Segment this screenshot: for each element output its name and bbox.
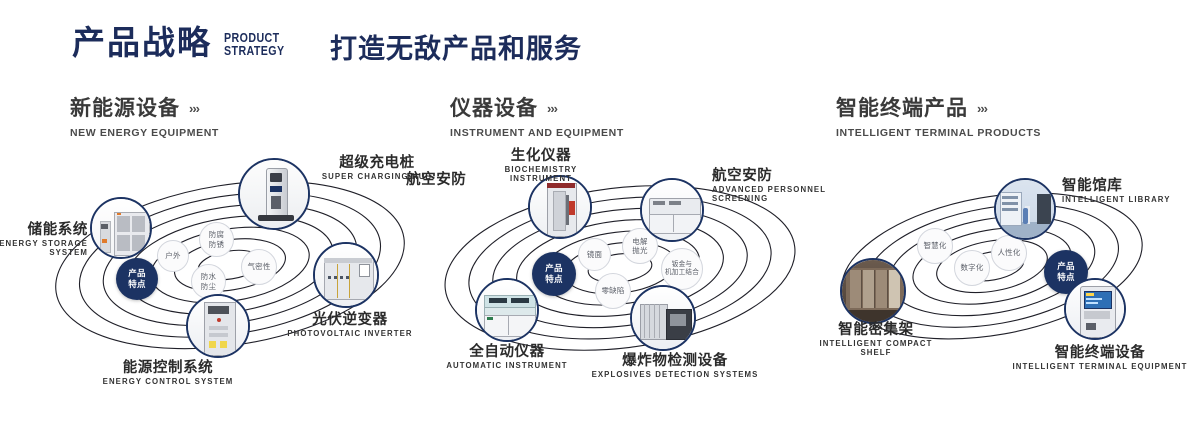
node-energy-storage-system[interactable]	[90, 197, 152, 259]
node-automatic-instrument[interactable]	[475, 278, 539, 342]
caption-en: INTELLIGENT TERMINAL EQUIPMENT	[1010, 363, 1190, 372]
feature-pill-label: 智慧化	[923, 241, 946, 250]
caption-energy-storage-system: 储能系统 ENERGY STORAGE SYSTEM	[0, 222, 88, 258]
node-intelligent-compact-shelf[interactable]	[840, 258, 906, 324]
node-photovoltaic-inverter[interactable]	[313, 242, 379, 308]
cluster-instrument: 镜面 电解 抛光 钣金与 机加工结合 零缺陷 产品 特点 航空安防 生化仪器 B…	[430, 160, 810, 360]
feature-pill-label: 人性化	[997, 248, 1020, 257]
section-title-en: NEW ENERGY EQUIPMENT	[70, 127, 219, 139]
feature-pill-label: 防腐 防锈	[209, 230, 224, 249]
page-title: 产品战略 PRODUCT STRATEGY	[72, 26, 298, 59]
caption-en: INTELLIGENT COMPACT SHELF	[796, 340, 956, 357]
caption-en: EXPLOSIVES DETECTION SYSTEMS	[585, 371, 765, 380]
caption-en: AUTOMATIC INSTRUMENT	[432, 362, 582, 371]
caption-intelligent-compact-shelf: 智能密集架 INTELLIGENT COMPACT SHELF	[796, 322, 956, 358]
section-title-cn: 新能源设备	[70, 98, 180, 119]
caption-cn: 储能系统	[0, 222, 88, 238]
cluster-new-energy: 户外 防腐 防锈 防水 防尘 气密性 产品 特点 储能系统 ENERGY S	[40, 160, 420, 360]
node-advanced-personnel-screening[interactable]	[640, 178, 704, 242]
caption-biochemistry-instrument: 生化仪器 BIOCHEMISTRY INSTRUMENT	[466, 148, 616, 184]
chevrons-right-icon: ›››	[977, 101, 987, 116]
page-title-en: PRODUCT STRATEGY	[224, 31, 285, 58]
caption-en: ENERGY CONTROL SYSTEM	[88, 378, 248, 387]
section-title-en: INSTRUMENT AND EQUIPMENT	[450, 127, 624, 139]
center-badge: 产品 特点	[116, 258, 158, 300]
feature-pill: 镜面	[578, 238, 611, 271]
feature-pill-label: 零缺陷	[601, 286, 624, 295]
caption-cn: 光伏逆变器	[280, 312, 420, 328]
node-intelligent-terminal-equipment[interactable]	[1064, 278, 1126, 340]
caption-cn: 全自动仪器	[432, 344, 582, 360]
section-title-intelligent-terminal: 智能终端产品››› INTELLIGENT TERMINAL PRODUCTS	[836, 98, 1041, 139]
feature-pill-label: 气密性	[247, 262, 270, 271]
feature-pill: 智慧化	[917, 228, 953, 264]
center-badge: 产品 特点	[532, 252, 576, 296]
node-energy-control-system[interactable]	[186, 294, 250, 358]
cluster-intelligent-terminal: 智慧化 数字化 人性化 产品 特点 智能馆库 INTELLIGENT LIBRA…	[812, 170, 1192, 370]
caption-energy-control-system: 能源控制系统 ENERGY CONTROL SYSTEM	[88, 360, 248, 387]
page-title-en-line2: STRATEGY	[224, 44, 285, 57]
center-badge-line2: 特点	[545, 274, 562, 285]
section-title-new-energy: 新能源设备››› NEW ENERGY EQUIPMENT	[70, 98, 219, 139]
feature-pill-label: 户外	[165, 251, 180, 260]
caption-cn: 爆炸物检测设备	[585, 353, 765, 369]
caption-en: ENERGY STORAGE SYSTEM	[0, 240, 88, 257]
page-slogan: 打造无敌产品和服务	[330, 36, 582, 63]
caption-photovoltaic-inverter: 光伏逆变器 PHOTOVOLTAIC INVERTER	[280, 312, 420, 339]
feature-pill-label: 钣金与 机加工结合	[665, 261, 699, 277]
feature-pill: 零缺陷	[595, 273, 631, 309]
product-strategy-infographic: 产品战略 PRODUCT STRATEGY 打造无敌产品和服务 新能源设备›››…	[0, 0, 1200, 422]
feature-pill: 户外	[157, 240, 189, 272]
chevrons-right-icon: ›››	[547, 101, 557, 116]
caption-cn: 能源控制系统	[88, 360, 248, 376]
feature-pill-label: 数字化	[960, 263, 983, 272]
chevrons-right-icon: ›››	[189, 101, 199, 116]
node-biochemistry-instrument[interactable]	[528, 175, 592, 239]
page-title-cn: 产品战略	[72, 26, 212, 59]
caption-cn: 智能终端设备	[1010, 345, 1190, 361]
page-title-en-line1: PRODUCT	[224, 31, 285, 44]
node-explosives-detection-systems[interactable]	[630, 285, 696, 351]
center-badge-line2: 特点	[128, 279, 145, 290]
section-title-cn: 仪器设备	[450, 98, 538, 119]
caption-cn: 生化仪器	[466, 148, 616, 164]
caption-cn: 智能密集架	[796, 322, 956, 338]
feature-pill: 气密性	[241, 249, 277, 285]
feature-pill-label: 镜面	[587, 250, 602, 259]
feature-pill: 防腐 防锈	[199, 222, 234, 257]
center-badge-line1: 产品	[1057, 261, 1074, 272]
section-title-instrument: 仪器设备››› INSTRUMENT AND EQUIPMENT	[450, 98, 624, 139]
center-badge-line1: 产品	[545, 263, 562, 274]
node-intelligent-library[interactable]	[994, 178, 1056, 240]
caption-explosives-detection-systems: 爆炸物检测设备 EXPLOSIVES DETECTION SYSTEMS	[585, 353, 765, 380]
node-super-charging-hub[interactable]	[238, 158, 310, 230]
caption-automatic-instrument: 全自动仪器 AUTOMATIC INSTRUMENT	[432, 344, 582, 371]
caption-cn: 智能馆库	[1062, 178, 1200, 194]
feature-pill: 钣金与 机加工结合	[661, 248, 703, 290]
caption-intelligent-library: 智能馆库 INTELLIGENT LIBRARY	[1062, 178, 1200, 205]
section-title-en: INTELLIGENT TERMINAL PRODUCTS	[836, 127, 1041, 139]
caption-en: BIOCHEMISTRY INSTRUMENT	[466, 166, 616, 183]
caption-en: INTELLIGENT LIBRARY	[1062, 196, 1200, 205]
feature-pill: 数字化	[954, 250, 990, 286]
section-title-cn: 智能终端产品	[836, 98, 968, 119]
feature-pill-label: 防水 防尘	[201, 272, 216, 291]
feature-pill: 人性化	[991, 235, 1027, 271]
center-badge-line1: 产品	[128, 268, 145, 279]
caption-en: PHOTOVOLTAIC INVERTER	[280, 330, 420, 339]
caption-intelligent-terminal-equipment: 智能终端设备 INTELLIGENT TERMINAL EQUIPMENT	[1010, 345, 1190, 372]
